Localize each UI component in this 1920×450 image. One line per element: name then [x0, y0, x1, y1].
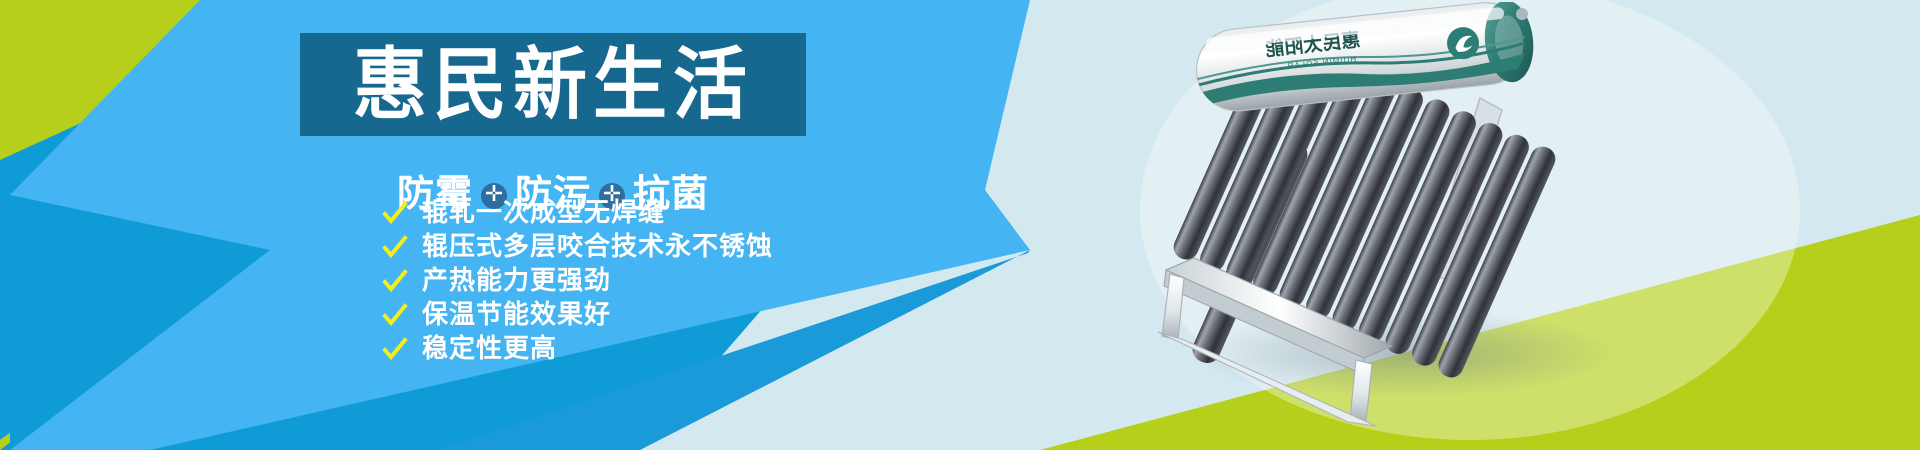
water-tank: 惠民太阳能 HUIMIN SOLAR — [1193, 2, 1538, 115]
check-icon — [382, 200, 408, 226]
feature-label: 辊轧一次成型无焊缝 — [422, 200, 665, 226]
feature-label: 辊压式多层咬合技术永不锈蚀 — [422, 234, 773, 260]
page-title: 惠民新生活 — [353, 45, 753, 123]
promo-banner: 惠民新生活 防霉 ✛ 防污 ✛ 抗菌 辊轧一次成型无焊缝 辊压式多层咬合技术永不… — [0, 0, 1920, 450]
product-image-solar-water-heater: 惠民太阳能 HUIMIN SOLAR — [1150, 2, 1910, 450]
feature-label: 产热能力更强劲 — [422, 268, 611, 294]
feature-item: 辊压式多层咬合技术永不锈蚀 — [382, 230, 773, 263]
check-icon — [382, 336, 408, 362]
feature-item: 保温节能效果好 — [382, 298, 773, 331]
check-icon — [382, 302, 408, 328]
title-plate: 惠民新生活 — [300, 33, 806, 136]
feature-list: 辊轧一次成型无焊缝 辊压式多层咬合技术永不锈蚀 产热能力更强劲 保温节能效果好 — [382, 196, 773, 366]
check-icon — [382, 268, 408, 294]
tank-fitting — [1516, 8, 1528, 20]
feature-item: 产热能力更强劲 — [382, 264, 773, 297]
feature-item: 辊轧一次成型无焊缝 — [382, 196, 773, 229]
feature-item: 稳定性更高 — [382, 332, 773, 365]
feature-label: 稳定性更高 — [422, 336, 557, 362]
feature-label: 保温节能效果好 — [422, 302, 611, 328]
check-icon — [382, 234, 408, 260]
